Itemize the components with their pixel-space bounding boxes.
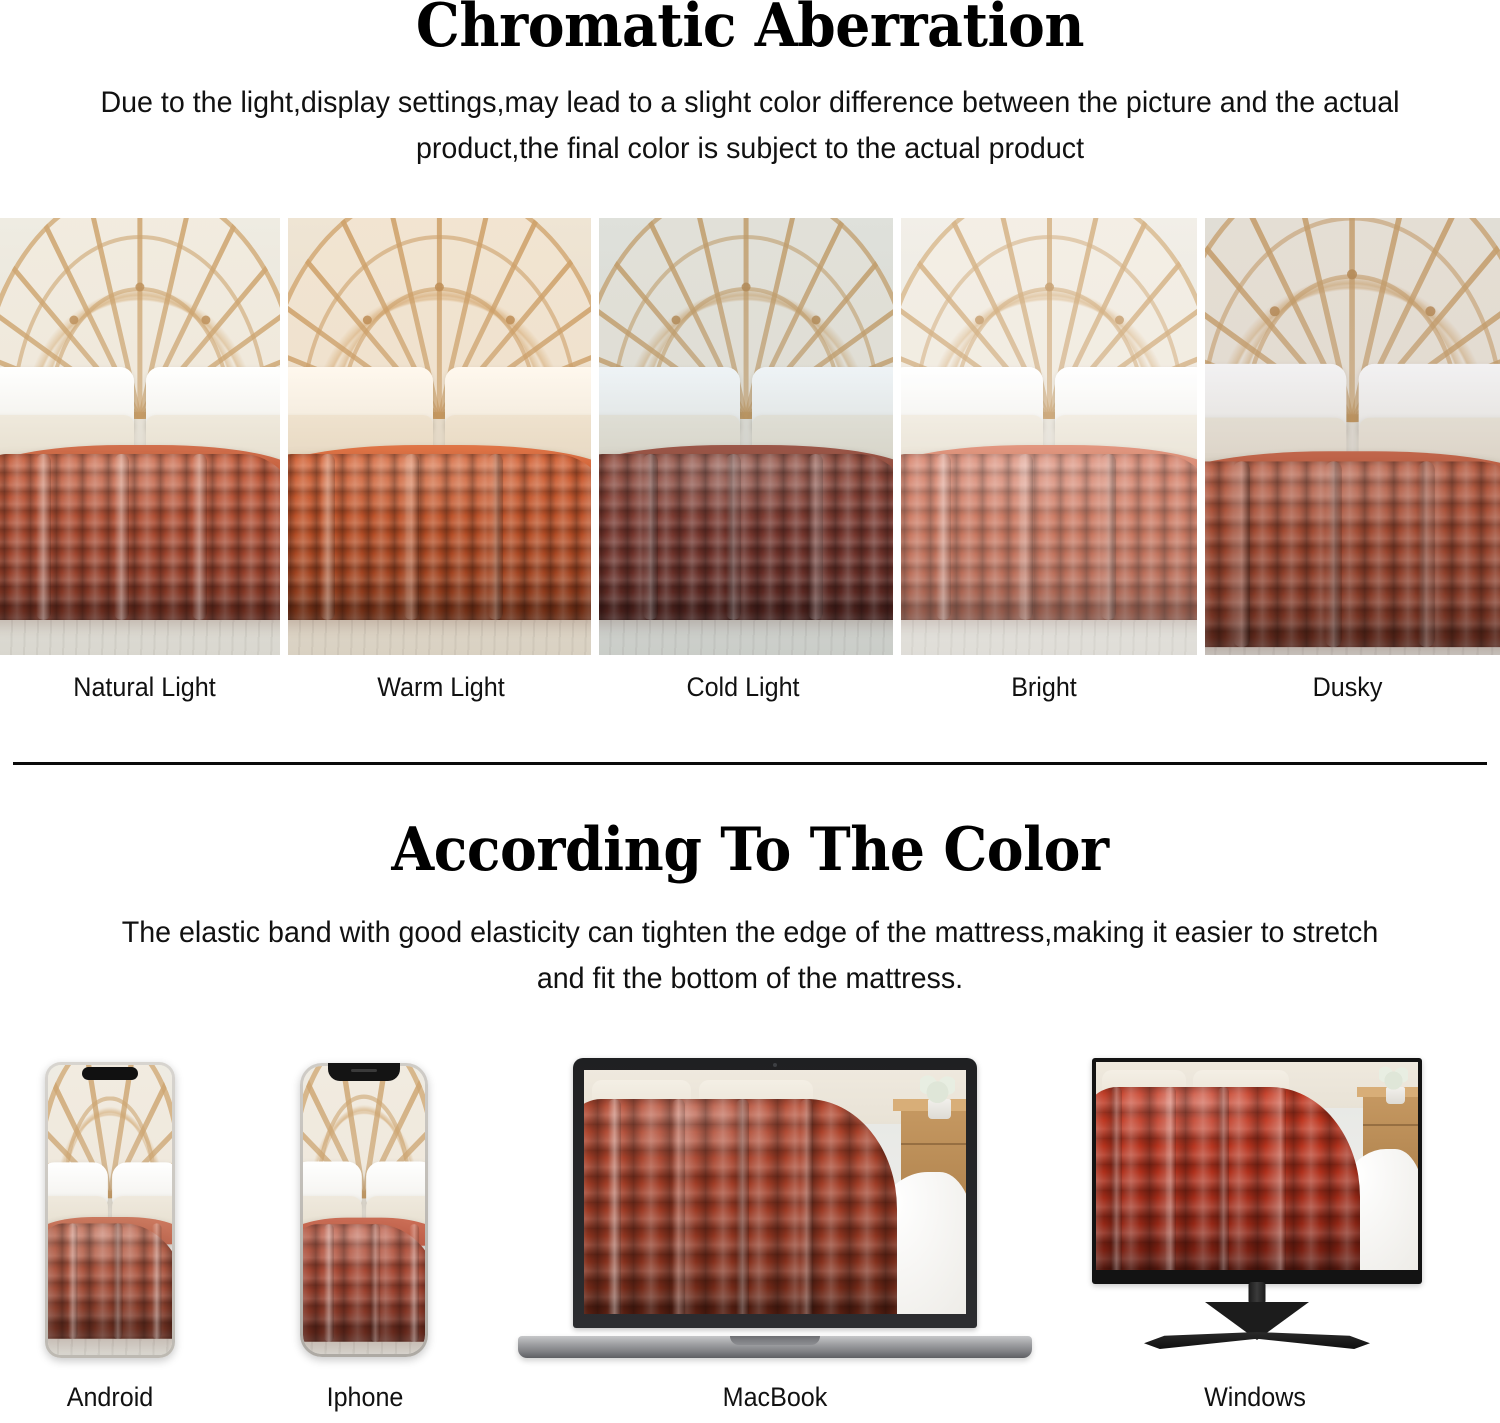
product-infographic-page: Chromatic Aberration Due to the light,di… (0, 0, 1500, 1423)
label-natural-light: Natural Light (10, 672, 279, 716)
monitor-stand-neck (1249, 1282, 1266, 1304)
photo-bright (901, 218, 1197, 655)
label-android: Android (36, 1382, 185, 1413)
bed-scene-image (0, 218, 280, 655)
monitor-bezel (1092, 1058, 1422, 1284)
lighting-comparison-photo-strip (0, 218, 1500, 655)
bed-scene-image (599, 218, 894, 655)
device-android-phone (45, 1062, 175, 1358)
iphone-screen (303, 1066, 425, 1354)
page-title-according-to-the-color: According To The Color (60, 820, 1440, 880)
photo-cold-light (599, 218, 894, 655)
macbook-base (518, 1336, 1032, 1358)
device-windows-monitor (1092, 1058, 1422, 1358)
android-screen (48, 1065, 172, 1355)
label-warm-light: Warm Light (300, 672, 583, 716)
macbook-camera-icon (773, 1063, 777, 1067)
photo-warm-light (288, 218, 591, 655)
label-cold-light: Cold Light (604, 672, 883, 716)
bed-scene-image (1205, 218, 1500, 655)
bed-scene-image (901, 218, 1197, 655)
device-iphone (300, 1063, 428, 1357)
lighting-label-row: Natural Light Warm Light Cold Light Brig… (0, 672, 1500, 716)
label-iphone: Iphone (291, 1382, 440, 1413)
label-bright: Bright (904, 672, 1185, 716)
monitor-screen (1096, 1062, 1418, 1270)
page-title-chromatic-aberration: Chromatic Aberration (60, 0, 1440, 56)
iphone-notch-icon (328, 1063, 400, 1081)
bed-scene-image (288, 218, 591, 655)
device-macbook (518, 1058, 1032, 1358)
section-divider (13, 762, 1487, 765)
photo-dusky (1205, 218, 1500, 655)
label-windows: Windows (1162, 1382, 1348, 1413)
monitor-stand-foot (1144, 1332, 1370, 1349)
label-dusky: Dusky (1206, 672, 1490, 716)
chromatic-aberration-description: Due to the light,display settings,may le… (81, 80, 1420, 171)
photo-natural-light (0, 218, 280, 655)
android-notch-icon (82, 1067, 138, 1080)
macbook-trackpad-notch-icon (730, 1336, 820, 1345)
according-to-the-color-description: The elastic band with good elasticity ca… (100, 910, 1400, 1001)
device-label-row: Android Iphone MacBook Windows (0, 1382, 1500, 1422)
label-macbook: MacBook (701, 1382, 850, 1413)
macbook-lid (573, 1058, 977, 1328)
macbook-screen (584, 1070, 966, 1314)
